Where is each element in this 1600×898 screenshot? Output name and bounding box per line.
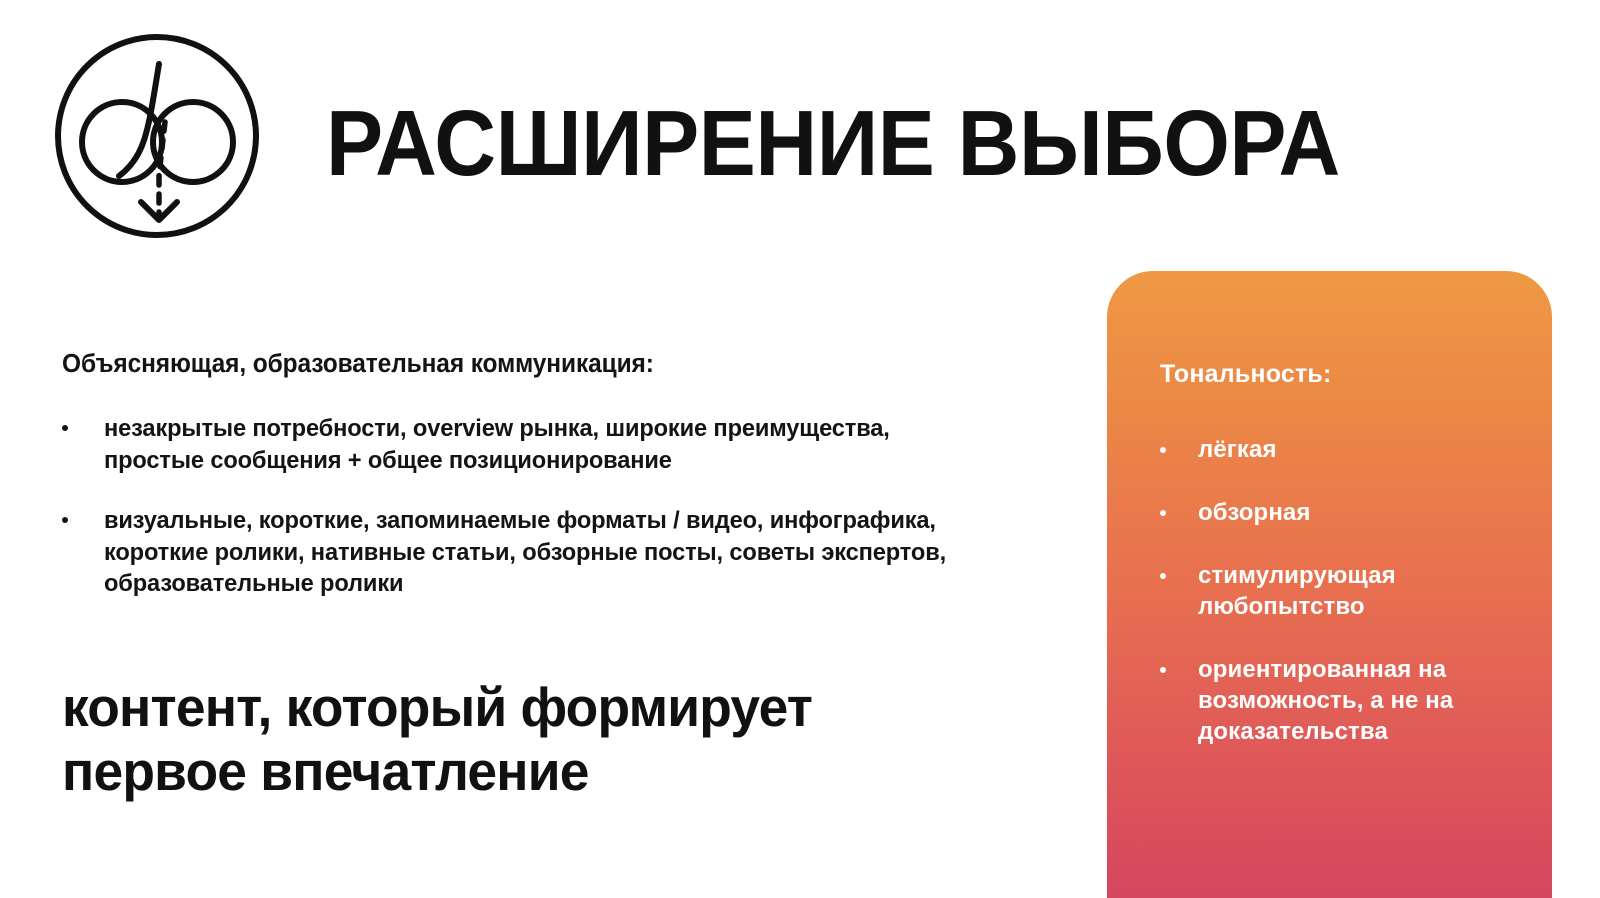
left-content-column: Объясняющая, образовательная коммуникаци…: [62, 348, 1027, 600]
list-item-label: лёгкая: [1198, 434, 1528, 465]
list-item-label: визуальные, короткие, запоминаемые форма…: [104, 505, 995, 600]
list-item: незакрытые потребности, overview рынка, …: [62, 413, 1027, 476]
infinity-circle-logo: [53, 30, 261, 242]
tone-card-content: Тональность: лёгкая обзорная стимулирующ…: [1160, 359, 1528, 747]
list-item-label: стимулирующая любопытство: [1198, 560, 1528, 622]
bullet-dot-icon: [1160, 497, 1198, 516]
list-item: обзорная: [1160, 497, 1528, 528]
list-item-label: обзорная: [1198, 497, 1528, 528]
list-item: стимулирующая любопытство: [1160, 560, 1528, 622]
tone-card-heading: Тональность:: [1160, 359, 1528, 390]
statement-headline: контент, который формирует первое впечат…: [62, 675, 964, 803]
lead-heading: Объясняющая, образовательная коммуникаци…: [62, 348, 988, 380]
bullet-dot-icon: [1160, 654, 1198, 673]
slide-canvas: РАСШИРЕНИЕ ВЫБОРА Объясняющая, образоват…: [0, 0, 1600, 898]
list-item: визуальные, короткие, запоминаемые форма…: [62, 505, 1027, 600]
bullet-dot-icon: [62, 505, 104, 523]
list-item-label: ориентированная на возможность, а не на …: [1198, 654, 1528, 747]
bullet-list: незакрытые потребности, overview рынка, …: [62, 413, 1027, 600]
list-item-label: незакрытые потребности, overview рынка, …: [104, 413, 995, 476]
slide-header: РАСШИРЕНИЕ ВЫБОРА: [0, 0, 1600, 260]
bullet-dot-icon: [1160, 560, 1198, 579]
bullet-dot-icon: [1160, 434, 1198, 453]
page-title: РАСШИРЕНИЕ ВЫБОРА: [326, 95, 1340, 191]
list-item: ориентированная на возможность, а не на …: [1160, 654, 1528, 747]
list-item: лёгкая: [1160, 434, 1528, 465]
tone-card: Тональность: лёгкая обзорная стимулирующ…: [1107, 271, 1552, 898]
bullet-dot-icon: [62, 413, 104, 431]
